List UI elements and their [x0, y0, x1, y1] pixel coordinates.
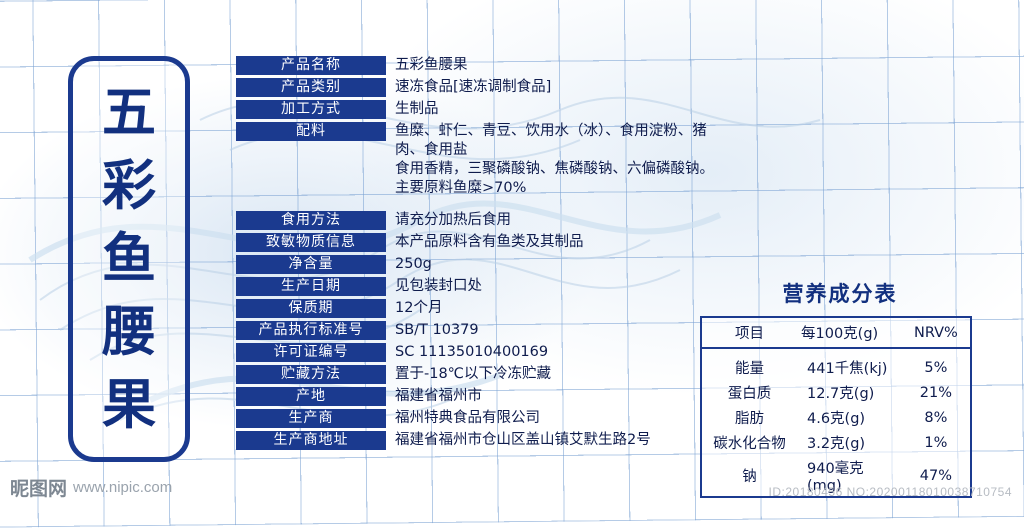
table-header-row: 项目 每100克(g) NRV%	[701, 317, 971, 348]
table-row: 蛋白质 12.7克(g) 21%	[701, 380, 971, 405]
info-row-standard-code: 产品执行标准号 SB/T 10379	[236, 321, 716, 340]
cell-item: 碳水化合物	[701, 430, 797, 455]
info-label: 配料	[236, 122, 386, 141]
cell-nrv: 1%	[902, 430, 971, 455]
info-value: 福建省福州市仓山区盖山镇艾默生路2号	[386, 431, 651, 450]
cell-nrv: 8%	[902, 405, 971, 430]
nutrition-facts-block: 营养成分表 项目 每100克(g) NRV% 能量 441千焦(kj) 5% 蛋…	[700, 278, 980, 498]
info-label: 生产商	[236, 409, 386, 428]
info-label: 贮藏方法	[236, 365, 386, 384]
title-char-3: 鱼	[102, 232, 156, 286]
info-label: 产品执行标准号	[236, 321, 386, 340]
info-row-allergen: 致敏物质信息 本产品原料含有鱼类及其制品	[236, 233, 716, 252]
cell-nrv: 21%	[902, 380, 971, 405]
info-row-production-date: 生产日期 见包装封口处	[236, 277, 716, 296]
info-value: 生制品	[386, 100, 439, 119]
product-title-panel: 五 彩 鱼 腰 果	[68, 56, 190, 462]
cell-amount: 4.6克(g)	[797, 405, 902, 430]
header-amount: 每100克(g)	[797, 317, 902, 348]
info-label: 产品类别	[236, 78, 386, 97]
info-row-serving-method: 食用方法 请充分加热后食用	[236, 211, 716, 230]
info-label: 产地	[236, 387, 386, 406]
info-value: 250g	[386, 255, 432, 274]
title-char-2: 彩	[102, 159, 156, 213]
info-row-manufacturer: 生产商 福州特典食品有限公司	[236, 409, 716, 428]
info-value: 速冻食品[速冻调制食品]	[386, 78, 551, 97]
nipic-logo: 昵图网	[10, 474, 67, 501]
info-row-processing-method: 加工方式 生制品	[236, 100, 716, 119]
info-row-storage-method: 贮藏方法 置于-18℃以下冷冻贮藏	[236, 365, 716, 384]
header-nrv: NRV%	[902, 317, 971, 348]
info-row-origin: 产地 福建省福州市	[236, 387, 716, 406]
watermark-left: 昵图网 www.nipic.com	[10, 474, 172, 501]
nutrition-table: 项目 每100克(g) NRV% 能量 441千焦(kj) 5% 蛋白质 12.…	[700, 316, 972, 498]
cell-amount: 12.7克(g)	[797, 380, 902, 405]
table-row: 脂肪 4.6克(g) 8%	[701, 405, 971, 430]
info-row-net-content: 净含量 250g	[236, 255, 716, 274]
info-row-manufacturer-address: 生产商地址 福建省福州市仓山区盖山镇艾默生路2号	[236, 431, 716, 450]
info-label: 产品名称	[236, 56, 386, 75]
info-value: 置于-18℃以下冷冻贮藏	[386, 365, 551, 384]
info-label: 保质期	[236, 299, 386, 318]
info-row-product-category: 产品类别 速冻食品[速冻调制食品]	[236, 78, 716, 97]
watermark-id: ID:20180456 NO:20200118010038710754	[769, 485, 1012, 499]
info-label: 许可证编号	[236, 343, 386, 362]
info-label: 生产商地址	[236, 431, 386, 450]
info-value: 五彩鱼腰果	[386, 56, 468, 75]
info-label: 生产日期	[236, 277, 386, 296]
title-char-4: 腰	[102, 305, 156, 359]
info-label: 净含量	[236, 255, 386, 274]
cell-nrv: 5%	[902, 355, 971, 380]
cell-item: 能量	[701, 355, 797, 380]
info-row-ingredients: 配料 鱼糜、虾仁、青豆、饮用水（冰）、食用淀粉、猪肉、食用盐 食用香精，三聚磷酸…	[236, 122, 716, 198]
nutrition-title: 营养成分表	[700, 278, 980, 308]
table-row: 能量 441千焦(kj) 5%	[701, 355, 971, 380]
info-label: 加工方式	[236, 100, 386, 119]
info-value: 请充分加热后食用	[386, 211, 511, 230]
info-row-shelf-life: 保质期 12个月	[236, 299, 716, 318]
info-row-license-number: 许可证编号 SC 11135010400169	[236, 343, 716, 362]
table-row: 碳水化合物 3.2克(g) 1%	[701, 430, 971, 455]
info-value: 见包装封口处	[386, 277, 482, 296]
title-char-1: 五	[102, 86, 156, 140]
watermark-url: www.nipic.com	[73, 479, 172, 496]
title-char-5: 果	[102, 378, 156, 432]
info-value: 福建省福州市	[386, 387, 482, 406]
cell-amount: 441千焦(kj)	[797, 355, 902, 380]
cell-amount: 3.2克(g)	[797, 430, 902, 455]
cell-item: 蛋白质	[701, 380, 797, 405]
info-label: 食用方法	[236, 211, 386, 230]
info-value: 12个月	[386, 299, 442, 318]
info-value: 福州特典食品有限公司	[386, 409, 540, 428]
info-value: 鱼糜、虾仁、青豆、饮用水（冰）、食用淀粉、猪肉、食用盐 食用香精，三聚磷酸钠、焦…	[386, 122, 716, 198]
header-item: 项目	[701, 317, 797, 348]
cell-item: 脂肪	[701, 405, 797, 430]
info-value: 本产品原料含有鱼类及其制品	[386, 233, 584, 252]
info-value: SB/T 10379	[386, 321, 479, 340]
product-info-list: 产品名称 五彩鱼腰果 产品类别 速冻食品[速冻调制食品] 加工方式 生制品 配料…	[236, 56, 716, 453]
row-spacer	[236, 201, 716, 211]
info-value: SC 11135010400169	[386, 343, 548, 362]
table-spacer-row	[701, 348, 971, 355]
info-row-product-name: 产品名称 五彩鱼腰果	[236, 56, 716, 75]
info-label: 致敏物质信息	[236, 233, 386, 252]
